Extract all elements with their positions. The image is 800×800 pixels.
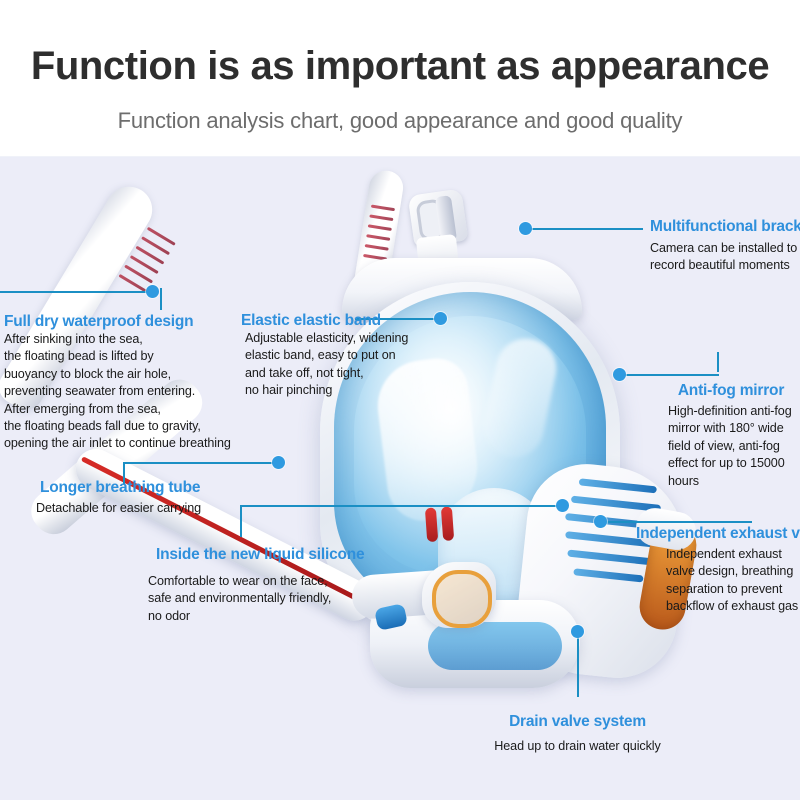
callout-elastic-elastic-band: Elastic elastic band Adjustable elastici… — [241, 311, 441, 400]
callout-dot-multifunctional-bracket — [519, 222, 532, 235]
callout-line: the floating beads fall due to gravity, — [4, 418, 244, 435]
callout-body-multifunctional-bracket: Camera can be installed to record beauti… — [650, 240, 800, 275]
callout-line: no hair pinching — [245, 382, 441, 399]
callout-line: hours — [668, 473, 800, 490]
callout-body-inside-the-new-liquid-silicone: Comfortable to wear on the face, safe an… — [148, 573, 386, 625]
callout-line: effect for up to 15000 — [668, 455, 800, 472]
callout-title-anti-fog-mirror: Anti-fog mirror — [672, 381, 790, 400]
leader-line-independent-exhaust-valve — [600, 521, 752, 523]
header-band: Function is as important as appearance F… — [0, 0, 800, 158]
callout-title-full-dry-waterproof-design: Full dry waterproof design — [4, 312, 244, 331]
page-title: Function is as important as appearance — [0, 44, 800, 89]
callout-longer-breathing-tube: Longer breathing tube Detachable for eas… — [40, 478, 270, 517]
callout-line: Head up to drain water quickly — [470, 738, 685, 755]
callout-line: Comfortable to wear on the face, — [148, 573, 386, 590]
callout-anti-fog-mirror: Anti-fog mirror High-definition anti-fog… — [672, 381, 800, 490]
leader-line-drain-valve-system — [577, 631, 579, 697]
callout-line: separation to prevent — [666, 581, 800, 598]
callout-inside-the-new-liquid-silicone: Inside the new liquid silicone Comfortab… — [156, 545, 386, 625]
leader-line-longer-breathing-tube-horizontal — [123, 462, 278, 464]
leader-line-multifunctional-bracket — [525, 228, 643, 230]
callout-line: backflow of exhaust gas — [666, 598, 800, 615]
callout-dot-full-dry-waterproof — [146, 285, 159, 298]
callout-body-longer-breathing-tube: Detachable for easier carrying — [40, 500, 270, 517]
callout-line: mirror with 180° wide — [668, 420, 800, 437]
callout-title-drain-valve-system: Drain valve system — [470, 712, 685, 731]
callout-dot-drain-valve-system — [571, 625, 584, 638]
callout-drain-valve-system: Drain valve system Head up to drain wate… — [470, 712, 685, 755]
callout-line: preventing seawater from entering. — [4, 383, 244, 400]
callout-line: After sinking into the sea, — [4, 331, 244, 348]
leader-line-liquid-silicone-horizontal — [240, 505, 562, 507]
red-drain-strip — [425, 504, 489, 542]
callout-body-full-dry-waterproof-design: After sinking into the sea, the floating… — [4, 331, 244, 453]
callout-body-elastic-elastic-band: Adjustable elasticity, widening elastic … — [241, 330, 441, 400]
callout-line: Detachable for easier carrying — [36, 500, 270, 517]
callout-body-anti-fog-mirror: High-definition anti-fog mirror with 180… — [668, 403, 800, 490]
callout-title-independent-exhaust-valve: Independent exhaust valve — [636, 524, 800, 543]
callout-line: Camera can be installed to — [650, 240, 800, 257]
leader-line-full-dry-waterproof-horizontal — [0, 291, 148, 293]
callout-line: and take off, not tight, — [245, 365, 441, 382]
breathing-tube-connector-ring — [432, 570, 492, 628]
callout-dot-anti-fog-mirror — [613, 368, 626, 381]
callout-line: safe and environmentally friendly, — [148, 590, 386, 607]
infographic-page: Function is as important as appearance F… — [0, 0, 800, 800]
leader-line-anti-fog-mirror-vertical — [717, 352, 719, 372]
callout-line: Independent exhaust — [666, 546, 800, 563]
callout-title-multifunctional-bracket: Multifunctional bracket — [650, 217, 800, 236]
callout-line: elastic band, easy to put on — [245, 347, 441, 364]
callout-line: valve design, breathing — [666, 563, 800, 580]
callout-line: buoyancy to block the air hole, — [4, 366, 244, 383]
callout-body-independent-exhaust-valve: Independent exhaust valve design, breath… — [666, 546, 800, 616]
callout-dot-independent-exhaust-valve — [594, 515, 607, 528]
callout-dot-longer-breathing-tube — [272, 456, 285, 469]
callout-title-longer-breathing-tube: Longer breathing tube — [40, 478, 270, 497]
callout-full-dry-waterproof-design: Full dry waterproof design After sinking… — [4, 312, 244, 453]
callout-body-drain-valve-system: Head up to drain water quickly — [470, 738, 685, 755]
callout-title-inside-the-new-liquid-silicone: Inside the new liquid silicone — [156, 545, 386, 564]
callout-line: field of view, anti-fog — [668, 438, 800, 455]
callout-independent-exhaust-valve: Independent exhaust valve Independent ex… — [636, 524, 800, 616]
callout-multifunctional-bracket: Multifunctional bracket Camera can be in… — [650, 217, 800, 275]
callout-dot-liquid-silicone — [556, 499, 569, 512]
page-subtitle: Function analysis chart, good appearance… — [0, 108, 800, 134]
callout-line: After emerging from the sea, — [4, 401, 244, 418]
mask-chin-silicone — [428, 622, 562, 670]
callout-title-elastic-elastic-band: Elastic elastic band — [241, 311, 441, 330]
callout-line: the floating bead is lifted by — [4, 348, 244, 365]
callout-line: opening the air inlet to continue breath… — [4, 435, 244, 452]
callout-line: no odor — [148, 608, 386, 625]
leader-line-full-dry-waterproof — [160, 288, 162, 310]
callout-line: Adjustable elasticity, widening — [245, 330, 441, 347]
callout-line: record beautiful moments — [650, 257, 800, 274]
leader-line-anti-fog-mirror — [619, 374, 719, 376]
callout-line: High-definition anti-fog — [668, 403, 800, 420]
